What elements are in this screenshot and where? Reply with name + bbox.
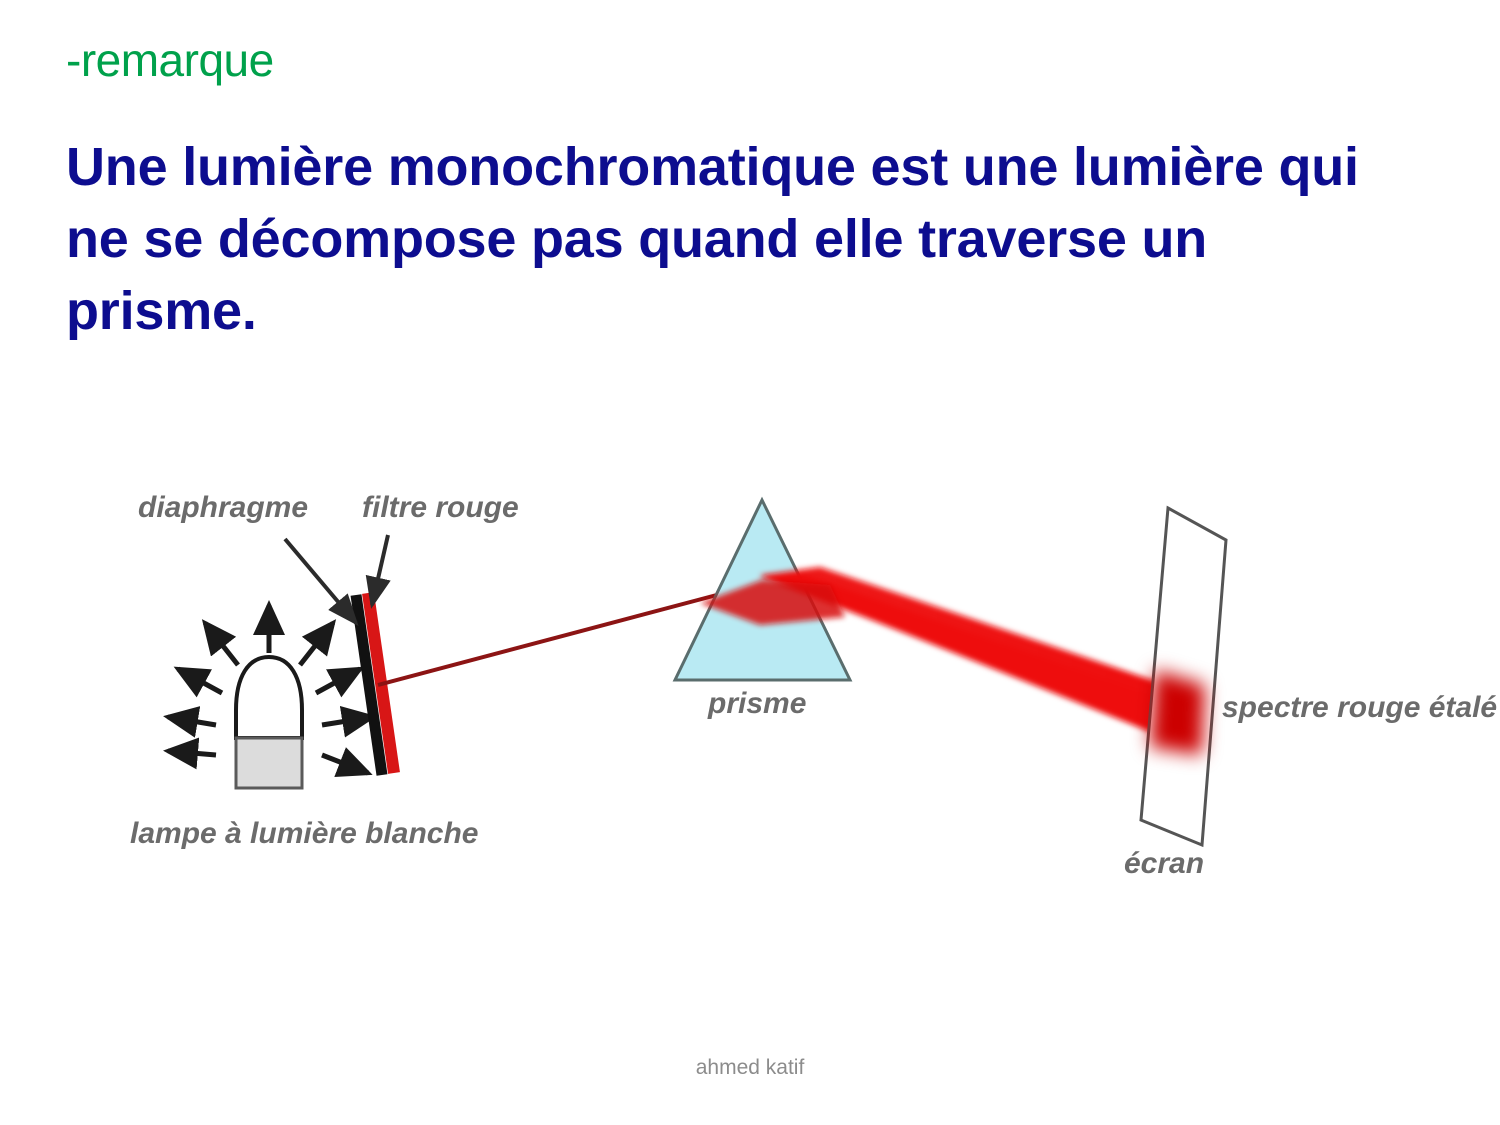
label-ecran: écran xyxy=(1124,847,1204,880)
label-spectre-rouge-etale: spectre rouge étalé xyxy=(1222,691,1497,724)
label-filtre-rouge: filtre rouge xyxy=(362,491,519,524)
label-prisme: prisme xyxy=(707,687,806,720)
slide-heading: -remarque xyxy=(66,36,274,84)
screen-shape xyxy=(1141,508,1226,845)
label-diaphragme: diaphragme xyxy=(138,491,308,524)
experiment-figure: diaphragme filtre rouge lampe à lumière … xyxy=(0,455,1500,925)
label-lampe: lampe à lumière blanche xyxy=(130,817,478,850)
lamp-icon xyxy=(236,657,302,788)
red-spectrum-spot xyxy=(1150,670,1205,755)
slide-footer: ahmed katif xyxy=(0,1056,1500,1080)
slide-body-text: Une lumière monochromatique est une lumi… xyxy=(66,132,1411,347)
